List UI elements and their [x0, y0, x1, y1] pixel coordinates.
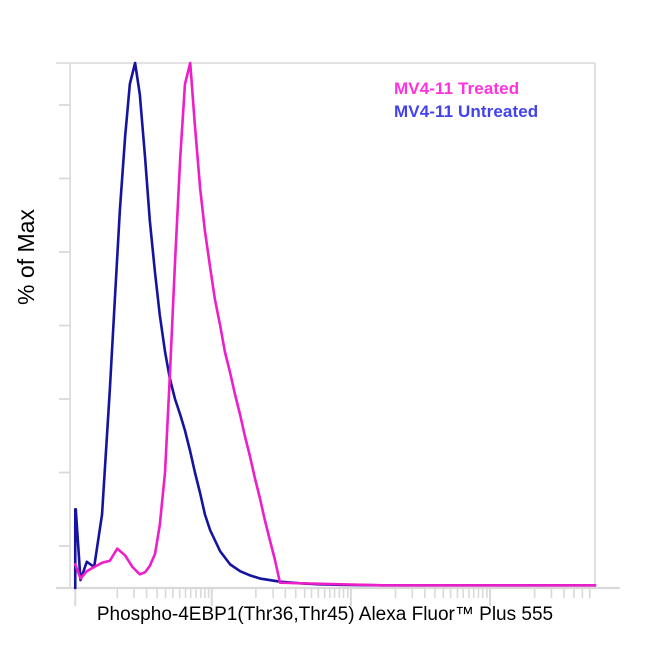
histogram-curve-treated: [75, 63, 595, 585]
histogram-series-layer: [75, 63, 595, 588]
legend-entry-untreated: MV4-11 Untreated: [394, 101, 538, 124]
y-axis-label: % of Max: [13, 209, 39, 305]
plot-frame: [56, 63, 620, 588]
legend: MV4-11 Treated MV4-11 Untreated: [394, 78, 538, 124]
flow-cytometry-figure: MV4-11 Treated MV4-11 Untreated Phospho-…: [0, 0, 650, 650]
histogram-curve-untreated: [75, 63, 595, 588]
histogram-plot: [0, 0, 650, 650]
x-axis-label: Phospho-4EBP1(Thr36,Thr45) Alexa Fluor™ …: [0, 604, 650, 626]
legend-entry-treated: MV4-11 Treated: [394, 78, 538, 101]
y-axis-label-container: % of Max: [13, 167, 43, 347]
y-axis-ticks: [59, 105, 70, 546]
